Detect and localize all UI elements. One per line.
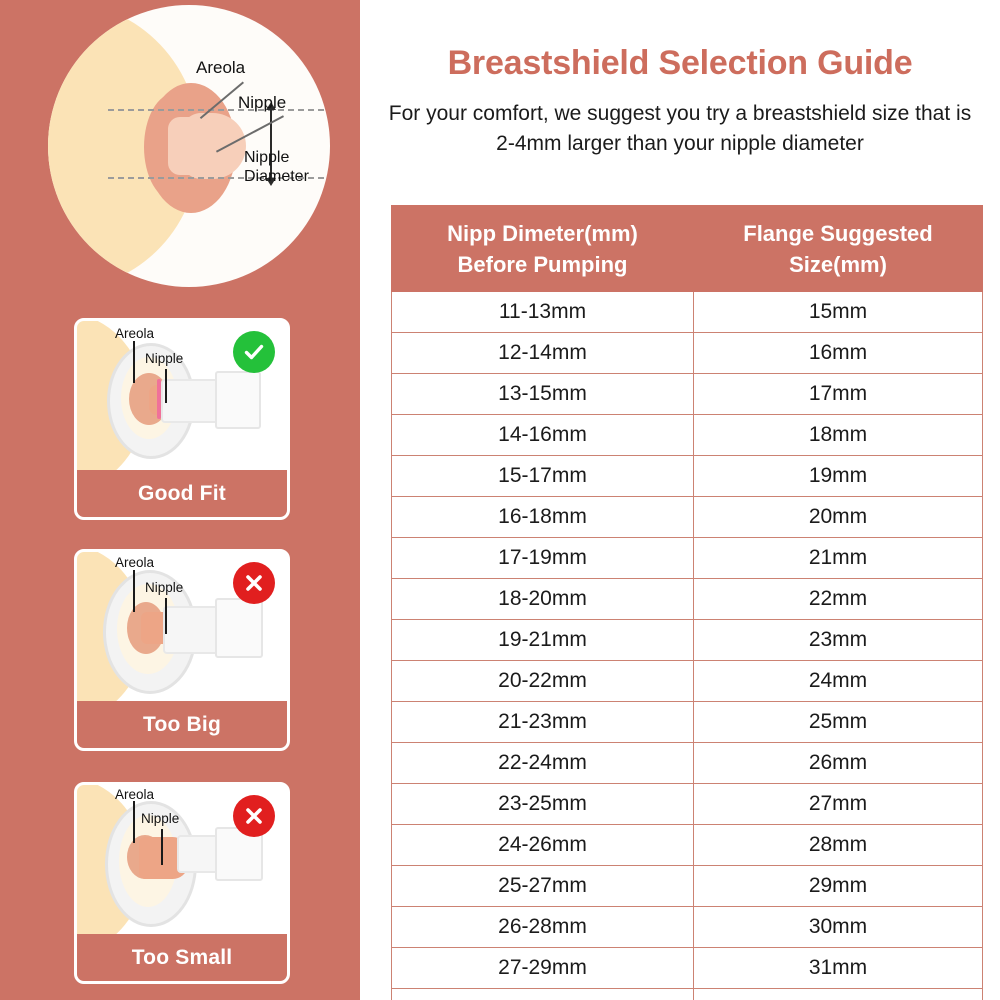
cross-circle-icon xyxy=(233,562,275,604)
cell-nipple-diameter: 15-17mm xyxy=(392,456,694,497)
cell-nipple-diameter: 14-16mm xyxy=(392,415,694,456)
cell-flange-size: 22mm xyxy=(694,579,983,620)
cell-flange-size: 17mm xyxy=(694,374,983,415)
nipple-diameter-guide-top xyxy=(108,109,324,111)
table-row: 18-20mm22mm xyxy=(392,579,983,620)
cell-flange-size: 25mm xyxy=(694,702,983,743)
flange-tunnel xyxy=(163,606,223,654)
table-row: 17-19mm21mm xyxy=(392,538,983,579)
cell-flange-size: 21mm xyxy=(694,538,983,579)
column-header-flange-size-line1: Flange Suggested xyxy=(700,218,976,249)
fit-card-nipple-label: Nipple xyxy=(145,351,183,366)
page-subtitle: For your comfort, we suggest you try a b… xyxy=(378,99,982,159)
breast-anatomy-diagram xyxy=(48,5,330,287)
fit-card-too-small[interactable]: Areola Nipple Too Small xyxy=(74,782,290,984)
cell-nipple-diameter: 20-22mm xyxy=(392,661,694,702)
table-row: 11-13mm15mm xyxy=(392,292,983,333)
fit-card-areola-label: Areola xyxy=(115,787,154,802)
fit-card-nipple-label: Nipple xyxy=(145,580,183,595)
table-row: 12-14mm16mm xyxy=(392,333,983,374)
cell-flange-size: 28mm xyxy=(694,825,983,866)
fit-card-good-fit-label: Good Fit xyxy=(77,470,287,517)
cell-nipple-diameter: 11-13mm xyxy=(392,292,694,333)
flange-connector xyxy=(215,598,263,658)
nipple-leader-line xyxy=(165,598,167,634)
areola-leader-line xyxy=(133,570,135,612)
table-row: 16-18mm20mm xyxy=(392,497,983,538)
column-header-flange-size-line2: Size(mm) xyxy=(700,249,976,280)
nipple-leader-line xyxy=(161,829,163,865)
cell-flange-size: 20mm xyxy=(694,497,983,538)
nipple-shape-base xyxy=(168,117,216,175)
table-row: 21-23mm25mm xyxy=(392,702,983,743)
cell-flange-size: 27mm xyxy=(694,784,983,825)
flange-tunnel xyxy=(161,379,223,423)
areola-leader-line xyxy=(133,341,135,383)
fit-card-too-big[interactable]: Areola Nipple Too Big xyxy=(74,549,290,751)
table-row: 27-29mm31mm xyxy=(392,948,983,989)
nipple-diameter-label-line1: Nipple xyxy=(244,148,309,167)
table-row: 26-28mm30mm xyxy=(392,907,983,948)
fit-card-too-small-illustration: Areola Nipple xyxy=(77,785,287,937)
page-title: Breastshield Selection Guide xyxy=(360,44,1000,83)
nipple-diameter-label-line2: Diameter xyxy=(244,167,309,186)
fit-card-nipple-label: Nipple xyxy=(141,811,179,826)
cell-flange-size: 31mm xyxy=(694,948,983,989)
left-illustration-panel: Areola Nipple Nipple Diameter Areola Nip… xyxy=(0,0,360,1000)
cell-nipple-diameter: 12-14mm xyxy=(392,333,694,374)
breastshield-selection-guide-page: Areola Nipple Nipple Diameter Areola Nip… xyxy=(0,0,1000,1000)
cell-nipple-diameter: 16-18mm xyxy=(392,497,694,538)
cell-nipple-diameter: 22-24mm xyxy=(392,743,694,784)
nipple-diameter-label: Nipple Diameter xyxy=(244,148,309,186)
table-row: 13-15mm17mm xyxy=(392,374,983,415)
cell-flange-size: 15mm xyxy=(694,292,983,333)
fit-card-good-fit-illustration: Areola Nipple xyxy=(77,321,287,473)
cell-nipple-diameter: 28-30mm xyxy=(392,989,694,1000)
cross-circle-icon xyxy=(233,795,275,837)
cell-flange-size: 24mm xyxy=(694,661,983,702)
nipple-leader-line xyxy=(165,369,167,403)
table-body: 11-13mm15mm12-14mm16mm13-15mm17mm14-16mm… xyxy=(392,292,983,1000)
table-row: 24-26mm28mm xyxy=(392,825,983,866)
table-row: 25-27mm29mm xyxy=(392,866,983,907)
anatomy-nipple-label: Nipple xyxy=(238,93,286,113)
fit-card-too-big-label: Too Big xyxy=(77,701,287,748)
anatomy-areola-label: Areola xyxy=(196,58,245,78)
fit-card-good-fit[interactable]: Areola Nipple Good Fit xyxy=(74,318,290,520)
table-row: 15-17mm19mm xyxy=(392,456,983,497)
cell-flange-size: 19mm xyxy=(694,456,983,497)
table-row: 28-30mm32mm xyxy=(392,989,983,1000)
cell-nipple-diameter: 23-25mm xyxy=(392,784,694,825)
cell-flange-size: 26mm xyxy=(694,743,983,784)
table-row: 23-25mm27mm xyxy=(392,784,983,825)
cell-nipple-diameter: 19-21mm xyxy=(392,620,694,661)
fit-card-too-small-label: Too Small xyxy=(77,934,287,981)
check-circle-icon xyxy=(233,331,275,373)
cell-nipple-diameter: 25-27mm xyxy=(392,866,694,907)
cell-nipple-diameter: 24-26mm xyxy=(392,825,694,866)
cell-nipple-diameter: 13-15mm xyxy=(392,374,694,415)
column-header-nipple-diameter-line1: Nipp Dimeter(mm) xyxy=(398,218,687,249)
cell-flange-size: 29mm xyxy=(694,866,983,907)
cell-nipple-diameter: 26-28mm xyxy=(392,907,694,948)
fit-card-too-big-illustration: Areola Nipple xyxy=(77,552,287,704)
table-header-row: Nipp Dimeter(mm) Before Pumping Flange S… xyxy=(392,206,983,292)
cell-flange-size: 18mm xyxy=(694,415,983,456)
cell-nipple-diameter: 17-19mm xyxy=(392,538,694,579)
table-row: 19-21mm23mm xyxy=(392,620,983,661)
table-row: 22-24mm26mm xyxy=(392,743,983,784)
nipple-contact-mark xyxy=(157,379,161,419)
fit-card-areola-label: Areola xyxy=(115,326,154,341)
flange-connector xyxy=(215,371,261,429)
guide-content-panel: Breastshield Selection Guide For your co… xyxy=(360,0,1000,1000)
fit-card-areola-label: Areola xyxy=(115,555,154,570)
table-header: Nipp Dimeter(mm) Before Pumping Flange S… xyxy=(392,206,983,292)
cell-nipple-diameter: 18-20mm xyxy=(392,579,694,620)
cell-nipple-diameter: 27-29mm xyxy=(392,948,694,989)
cell-flange-size: 30mm xyxy=(694,907,983,948)
flange-size-table: Nipp Dimeter(mm) Before Pumping Flange S… xyxy=(391,205,983,1000)
column-header-nipple-diameter-line2: Before Pumping xyxy=(398,249,687,280)
cell-nipple-diameter: 21-23mm xyxy=(392,702,694,743)
column-header-nipple-diameter: Nipp Dimeter(mm) Before Pumping xyxy=(392,206,694,292)
table-row: 14-16mm18mm xyxy=(392,415,983,456)
cell-flange-size: 16mm xyxy=(694,333,983,374)
cell-flange-size: 23mm xyxy=(694,620,983,661)
column-header-flange-size: Flange Suggested Size(mm) xyxy=(694,206,983,292)
cell-flange-size: 32mm xyxy=(694,989,983,1000)
areola-leader-line xyxy=(133,801,135,843)
table-row: 20-22mm24mm xyxy=(392,661,983,702)
